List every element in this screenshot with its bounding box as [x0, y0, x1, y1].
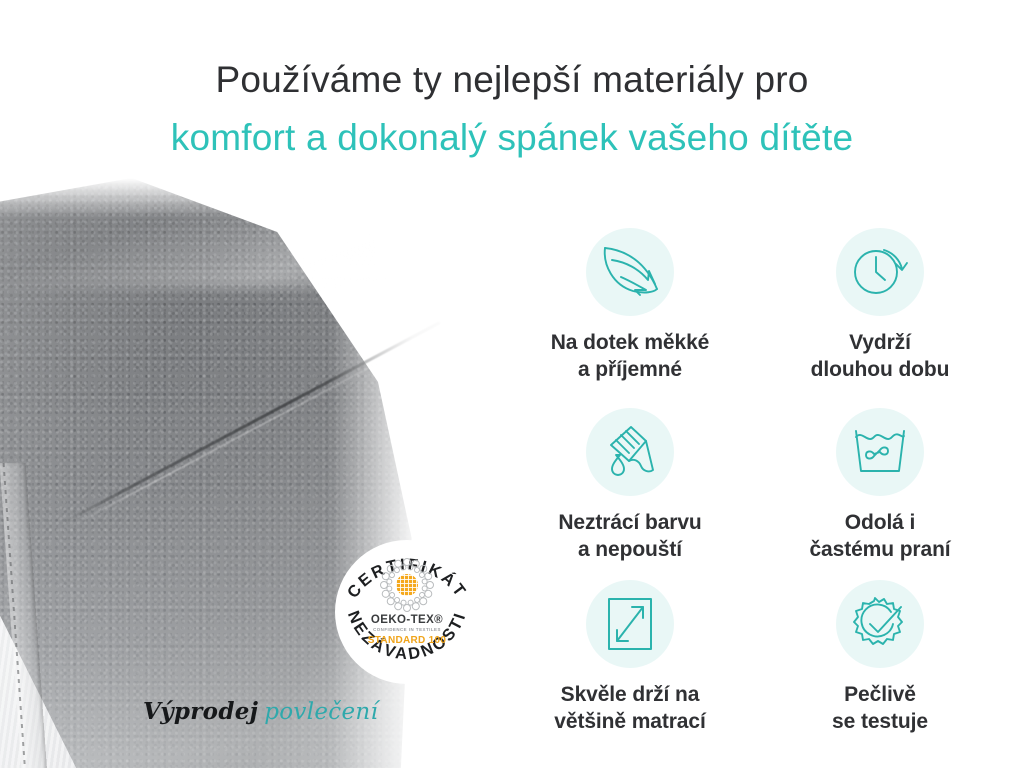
- feature-item-soft: Na dotek měkké a příjemné: [505, 228, 755, 408]
- feature-item-washable: Odolá i častému praní: [755, 408, 1005, 580]
- features-row-1: Na dotek měkké a příjemné Vydrží dlouhou…: [505, 228, 1005, 408]
- oeko-tex-certificate-seal: CERTIFIKÁT NEZÁVADNOSTI OEKO-TEX® CONFID…: [328, 533, 486, 691]
- leaf-icon: [586, 228, 674, 316]
- feature-label: Skvěle drží na většině matrací: [554, 682, 705, 736]
- oeko-flower-core: [396, 574, 418, 596]
- feature-item-tested: Pečlivě se testuje: [755, 580, 1005, 752]
- feature-label: Neztrácí barvu a nepouští: [558, 510, 701, 564]
- oeko-flower-petal: [400, 564, 407, 571]
- wash-basin-icon: [836, 408, 924, 496]
- brand-signature-first: Výprodej: [143, 698, 258, 725]
- oeko-tex-name: OEKO-TEX®: [328, 614, 486, 626]
- seal-center-content: OEKO-TEX® CONFIDENCE IN TEXTILES STANDAR…: [328, 558, 486, 646]
- headline-line-2: komfort a dokonalý spánek vašeho dítěte: [0, 116, 1024, 160]
- features-row-2: Neztrácí barvu a nepouští Odolá i častém…: [505, 408, 1005, 580]
- brand-signature-second: povlečení: [264, 699, 378, 725]
- oeko-tex-subtitle: CONFIDENCE IN TEXTILES: [328, 627, 486, 632]
- feature-label: Odolá i častému praní: [809, 510, 950, 564]
- headline: Používáme ty nejlepší materiály pro komf…: [0, 58, 1024, 159]
- paintbrush-drop-icon: [586, 408, 674, 496]
- feature-item-fits: Skvěle drží na většině matrací: [505, 580, 755, 752]
- clock-arrow-icon: [836, 228, 924, 316]
- features-grid: Na dotek měkké a příjemné Vydrží dlouhou…: [505, 228, 1005, 752]
- promo-banner: Používáme ty nejlepší materiály pro komf…: [0, 0, 1024, 768]
- feature-label: Pečlivě se testuje: [832, 682, 928, 736]
- feature-item-colorfast: Neztrácí barvu a nepouští: [505, 408, 755, 580]
- feature-label: Na dotek měkké a příjemné: [551, 330, 710, 384]
- stretch-arrows-icon: [586, 580, 674, 668]
- feature-label: Vydrží dlouhou dobu: [811, 330, 950, 384]
- features-row-3: Skvěle drží na většině matrací Pečlivě s…: [505, 580, 1005, 752]
- brand-signature: Výprodejpovlečení: [143, 698, 378, 725]
- badge-check-icon: [836, 580, 924, 668]
- oeko-tex-standard: STANDARD 100: [328, 635, 486, 646]
- oeko-flower-logo-icon: [380, 558, 434, 612]
- headline-line-1: Používáme ty nejlepší materiály pro: [0, 58, 1024, 102]
- feature-item-durable: Vydrží dlouhou dobu: [755, 228, 1005, 408]
